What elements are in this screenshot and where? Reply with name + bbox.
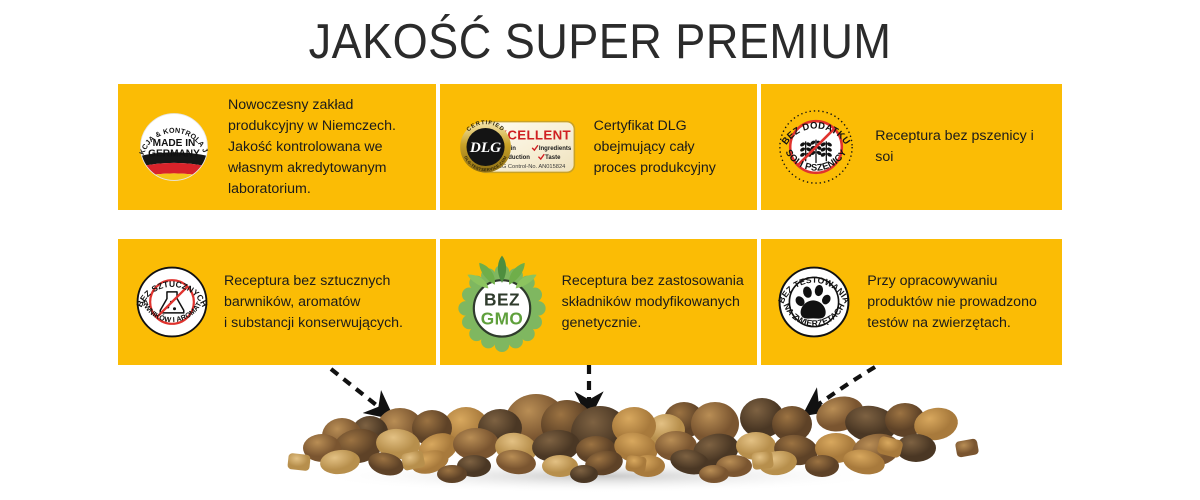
dog-kibble-pile [0,0,1200,500]
